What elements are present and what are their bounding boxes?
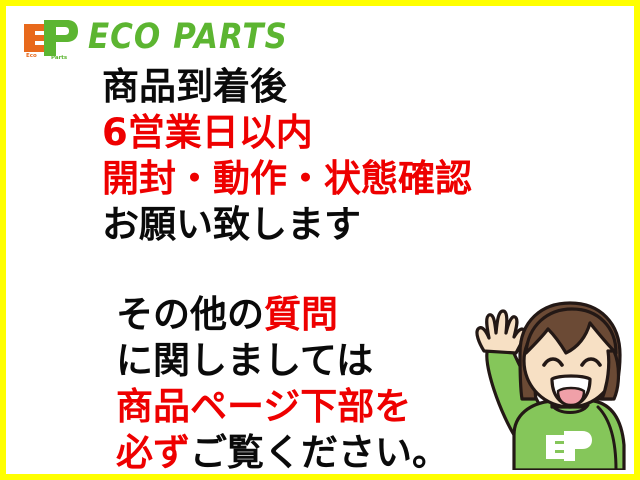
waving-staff-mascot-illustration xyxy=(448,295,628,470)
message-line-8-highlight: 必ず xyxy=(116,431,190,474)
message-line-4: お願い致します xyxy=(102,202,572,248)
svg-text:Parts: Parts xyxy=(51,55,68,60)
message-line-3: 開封・動作・状態確認 xyxy=(102,156,572,202)
message-line-1: 商品到着後 xyxy=(102,64,572,110)
ecoparts-ep-logo-icon: Eco Parts xyxy=(18,14,80,60)
svg-text:Eco: Eco xyxy=(26,53,37,59)
promo-banner: Eco Parts ECO PARTS 商品到着後 6営業日以内 開封・動作・状… xyxy=(0,0,640,480)
message-line-5-plain: その他の xyxy=(116,293,264,336)
message-line-2: 6営業日以内 xyxy=(102,110,572,156)
message-line-5-highlight: 質問 xyxy=(264,293,338,336)
message-line-8-plain: ご覧ください。 xyxy=(190,431,449,474)
brand-wordmark: ECO PARTS xyxy=(88,20,288,55)
brand-header: Eco Parts ECO PARTS xyxy=(18,14,288,60)
message-gap xyxy=(102,248,572,292)
